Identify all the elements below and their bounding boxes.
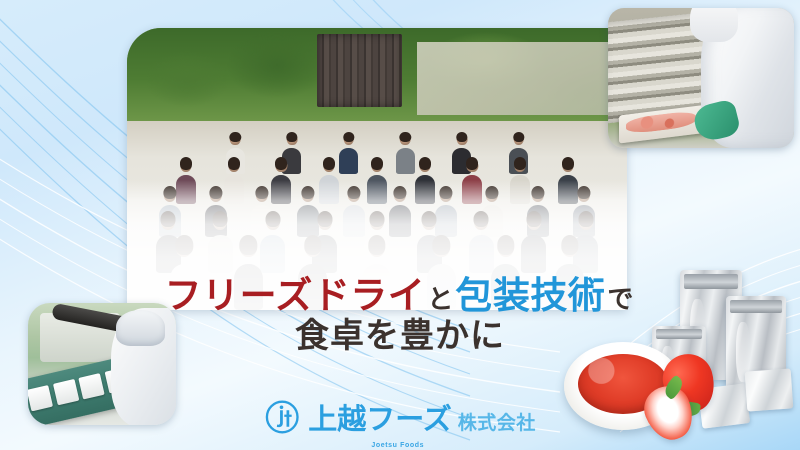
flat-sachet-b: [745, 368, 794, 411]
headline-line-1: フリーズドライと包装技術で: [0, 276, 800, 315]
headline: フリーズドライと包装技術で 食卓を豊かに: [0, 276, 800, 354]
headline-particle-de: で: [607, 284, 633, 314]
headline-freeze-dry: フリーズドライ: [165, 275, 426, 316]
headline-particle-to: と: [427, 284, 453, 314]
worker-hood: [690, 8, 738, 42]
headline-line-2: 食卓を豊かに: [0, 318, 800, 354]
hero-banner: フリーズドライと包装技術で 食卓を豊かに 上越フーズ Joetsu Foods …: [0, 0, 800, 450]
logo-company-suffix: 株式会社: [458, 408, 536, 435]
logo-company-name-romaji: Joetsu Foods: [371, 442, 424, 449]
jf-monogram-icon: [264, 399, 300, 435]
company-logo[interactable]: 上越フーズ Joetsu Foods 株式会社: [264, 396, 536, 438]
group-photo: [127, 28, 627, 310]
headline-packaging-tech: 包装技術: [455, 275, 605, 316]
logo-company-name-jp: 上越フーズ Joetsu Foods: [308, 396, 452, 438]
inset-photo-freeze-dry: [608, 8, 794, 148]
logo-wordmark: 上越フーズ Joetsu Foods 株式会社: [308, 396, 536, 438]
